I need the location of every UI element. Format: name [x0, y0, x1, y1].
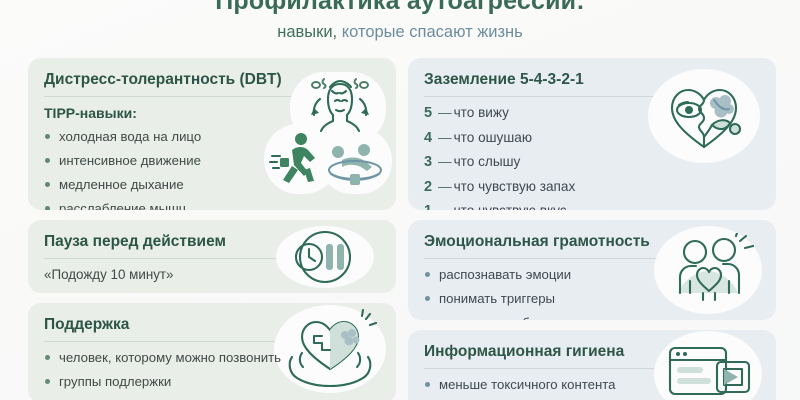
bullet-list: меньше токсичного контента [424, 376, 760, 393]
divider [424, 368, 679, 369]
list-item: 2—что чувствую запах [424, 178, 760, 196]
list-item: понимать триггеры [424, 290, 760, 307]
card-subheading: TIPP-навыки: [44, 104, 380, 123]
list-item: 1—что чувствую вкус [424, 202, 760, 210]
divider [44, 258, 299, 259]
card-grounding[interactable]: Заземление 5-4-3-2-1 5—что вижу 4—что ош… [408, 58, 776, 210]
bullet-list: холодная вода на лицо интенсивное движен… [44, 128, 380, 210]
list-item-label: что вижу [454, 105, 509, 120]
card-quote: «Подожду 10 минут» [44, 266, 380, 284]
list-item-number: 5 [424, 105, 436, 122]
card-pause-before-action[interactable]: Пауза перед действием «Подожду 10 минут» [28, 220, 396, 293]
card-support[interactable]: Поддержка человек, которому можно позвон… [28, 303, 396, 400]
list-item-number: 1 [424, 203, 436, 210]
bullet-list: распознавать эмоции понимать триггеры ра… [424, 266, 760, 320]
list-item-label: что чувствую вкус [454, 203, 567, 210]
card-distress-tolerance[interactable]: Дистресс-толерантность (DBT) TIPP-навыки… [28, 58, 396, 210]
subtitle-part-2: которые спасают жизнь [342, 23, 523, 41]
list-item: группы подлержки [44, 373, 380, 390]
card-information-hygiene[interactable]: Информационная гигиена меньше токсичного… [408, 330, 776, 400]
divider [44, 341, 299, 342]
card-heading: Пауза перед действием [44, 232, 380, 252]
list-item: медленное дыхание [44, 176, 380, 193]
page-title: Профилактика аутоагрессии: [0, 0, 800, 16]
divider [424, 258, 679, 259]
list-item: 5—что вижу [424, 104, 760, 122]
list-item-label: что чувствую запах [454, 179, 576, 194]
grounding-list: 5—что вижу 4—что ошушаю 3—что слышу 2—чт… [424, 104, 760, 210]
list-item-number: 4 [424, 130, 436, 147]
list-item-number: 3 [424, 154, 436, 171]
page-header: Профилактика аутоагрессии: навыки, котор… [0, 0, 800, 42]
list-item: 4—что ошушаю [424, 129, 760, 147]
page-subtitle: навыки, которые спасают жизнь [0, 22, 800, 42]
list-item: интенсивное движение [44, 152, 380, 169]
list-item: распознавать эмоции [424, 266, 760, 283]
list-item-label: что слышу [454, 154, 521, 169]
card-emotional-literacy[interactable]: Эмоциональная грамотность распознавать э… [408, 220, 776, 320]
list-item-number: 2 [424, 179, 436, 196]
card-heading: Эмоциональная грамотность [424, 232, 760, 252]
list-item: холодная вода на лицо [44, 128, 380, 145]
divider [44, 96, 299, 97]
right-column: Заземление 5-4-3-2-1 5—что вижу 4—что ош… [408, 58, 776, 400]
list-item: расслабление мышц [44, 200, 380, 210]
divider [424, 96, 679, 97]
list-item: человек, которому можно позвонить [44, 349, 380, 366]
card-heading: Заземление 5-4-3-2-1 [424, 70, 760, 90]
list-item: разрешать себе чувствовать [424, 314, 760, 320]
bullet-list: человек, которому можно позвонить группы… [44, 349, 380, 400]
card-heading: Поддержка [44, 315, 380, 335]
list-item: 3—что слышу [424, 153, 760, 171]
list-item-label: что ошушаю [454, 130, 532, 145]
card-heading: Дистресс-толерантность (DBT) [44, 70, 380, 90]
list-item: меньше токсичного контента [424, 376, 760, 393]
left-column: Дистресс-толерантность (DBT) TIPP-навыки… [28, 58, 396, 400]
subtitle-part-1: навыки, [277, 23, 337, 41]
card-heading: Информационная гигиена [424, 342, 760, 362]
